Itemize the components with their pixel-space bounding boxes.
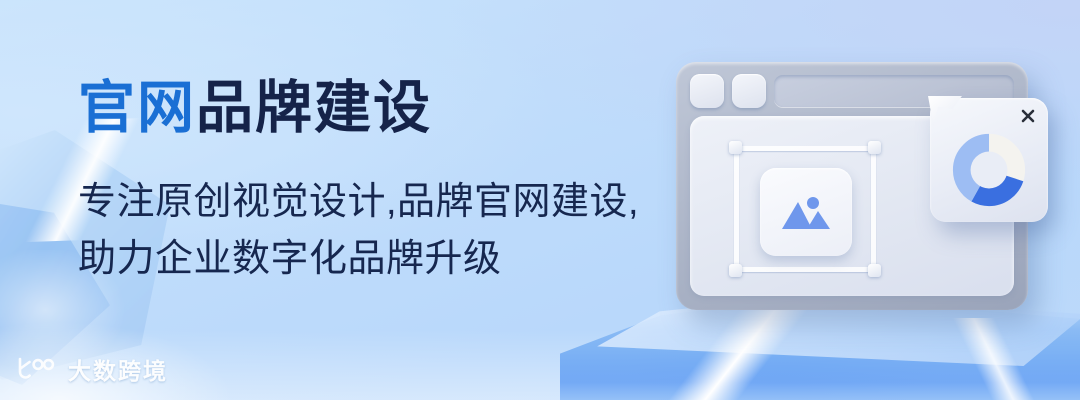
hero-copy: 官网品牌建设 专注原创视觉设计,品牌官网建设,助力企业数字化品牌升级 bbox=[78, 78, 678, 289]
browser-tab-2[interactable] bbox=[732, 74, 766, 108]
selection-edge-left bbox=[734, 146, 739, 272]
watermark-brand: 大数跨境 bbox=[68, 352, 168, 386]
k100-logo-icon bbox=[14, 355, 58, 383]
hero-banner: 官网品牌建设 专注原创视觉设计,品牌官网建设,助力企业数字化品牌升级 大数跨境 bbox=[0, 0, 1080, 400]
browser-illustration bbox=[676, 62, 1048, 310]
selection-edge-top bbox=[734, 146, 876, 151]
watermark: 大数跨境 bbox=[14, 352, 168, 386]
glass-pedestal bbox=[560, 296, 1080, 400]
page-title: 官网品牌建设 bbox=[78, 78, 678, 140]
selection-edge-bottom bbox=[734, 267, 876, 272]
pedestal-highlight-edge bbox=[575, 300, 905, 400]
headline-accent: 官网 bbox=[78, 76, 196, 140]
pedestal-highlight-edge-right bbox=[880, 318, 1080, 400]
close-icon[interactable] bbox=[1020, 108, 1036, 124]
browser-tab-1[interactable] bbox=[690, 74, 724, 108]
chart-card[interactable] bbox=[930, 98, 1048, 222]
hero-subtitle: 专注原创视觉设计,品牌官网建设,助力企业数字化品牌升级 bbox=[78, 174, 668, 290]
resize-handle-bottom-right[interactable] bbox=[868, 264, 881, 277]
selection-edge-right bbox=[871, 146, 876, 272]
resize-handle-bottom-left[interactable] bbox=[729, 264, 742, 277]
pedestal-glow bbox=[640, 312, 1000, 400]
donut-chart bbox=[948, 129, 1030, 211]
resize-handle-top-right[interactable] bbox=[868, 141, 881, 154]
resize-handle-top-left[interactable] bbox=[729, 141, 742, 154]
folded-corner bbox=[928, 96, 962, 126]
image-icon bbox=[779, 191, 833, 233]
selection-frame[interactable] bbox=[734, 146, 876, 272]
image-placeholder-card[interactable] bbox=[760, 168, 852, 256]
headline-dark: 品牌建设 bbox=[196, 76, 432, 140]
